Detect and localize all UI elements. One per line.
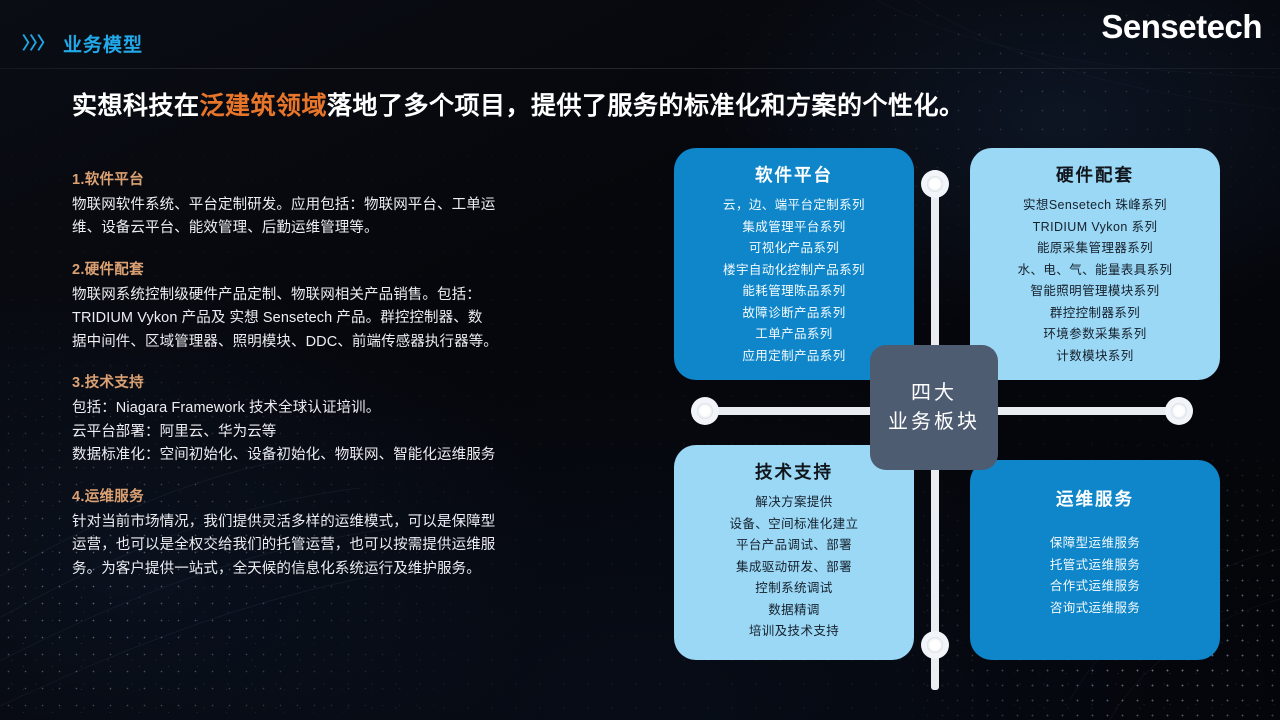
node-bottom	[921, 631, 949, 659]
body-line: 务。为客户提供一站式，全天候的信息化系统运行及维护服务。	[72, 558, 572, 581]
hub-line-2: 业务板块	[888, 408, 980, 437]
card-item: 合作式运维服务	[970, 576, 1220, 598]
card-item: 可视化产品系列	[674, 238, 914, 260]
section-kicker: 〉〉〉 业务模型	[22, 30, 143, 57]
body-line: TRIDIUM Vykon 产品及 实想 Sensetech 产品。群控控制器、…	[72, 307, 572, 330]
card-item-list: 保障型运维服务 托管式运维服务 合作式运维服务 咨询式运维服务	[970, 533, 1220, 619]
card-item: 集成管理平台系列	[674, 217, 914, 239]
block-body: 物联网系统控制级硬件产品定制、物联网相关产品销售。包括： TRIDIUM Vyk…	[72, 284, 572, 354]
block-heading: 3.技术支持	[72, 371, 572, 392]
card-item: 环境参数采集系列	[970, 324, 1220, 346]
brand-logo: Sensetech	[1101, 8, 1262, 46]
headline-before: 实想科技在	[72, 92, 200, 120]
block-body: 针对当前市场情况，我们提供灵活多样的运维模式，可以是保障型 运营，也可以是全权交…	[72, 511, 572, 581]
body-line: 数据标准化：空间初始化、设备初始化、物联网、智能化运维服务	[72, 444, 572, 467]
card-om-service[interactable]: 运维服务 保障型运维服务 托管式运维服务 合作式运维服务 咨询式运维服务	[970, 460, 1220, 660]
body-line: 包括：Niagara Framework 技术全球认证培训。	[72, 397, 572, 420]
block-heading: 2.硬件配套	[72, 258, 572, 279]
card-item: 托管式运维服务	[970, 555, 1220, 577]
body-line: 维、设备云平台、能效管理、后勤运维管理等。	[72, 217, 572, 240]
body-line: 物联网软件系统、平台定制研发。应用包括：物联网平台、工单运	[72, 194, 572, 217]
card-item: 设备、空间标准化建立	[674, 514, 914, 536]
card-item: 智能照明管理模块系列	[970, 281, 1220, 303]
block-body: 包括：Niagara Framework 技术全球认证培训。 云平台部署：阿里云…	[72, 397, 572, 467]
card-item: 云，边、端平台定制系列	[674, 195, 914, 217]
content-block-technical-support: 3.技术支持 包括：Niagara Framework 技术全球认证培训。 云平…	[72, 371, 572, 467]
card-technical-support[interactable]: 技术支持 解决方案提供 设备、空间标准化建立 平台产品调试、部署 集成驱动研发、…	[674, 445, 914, 660]
block-heading: 4.运维服务	[72, 485, 572, 506]
card-item: 实想Sensetech 珠峰系列	[970, 195, 1220, 217]
body-line: 运营，也可以是全权交给我们的托管运营，也可以按需提供运维服	[72, 534, 572, 557]
content-block-software-platform: 1.软件平台 物联网软件系统、平台定制研发。应用包括：物联网平台、工单运 维、设…	[72, 168, 572, 241]
node-top	[921, 170, 949, 198]
card-item: 工单产品系列	[674, 324, 914, 346]
left-content-column: 1.软件平台 物联网软件系统、平台定制研发。应用包括：物联网平台、工单运 维、设…	[72, 168, 572, 581]
card-item: TRIDIUM Vykon 系列	[970, 217, 1220, 239]
four-sectors-diagram: 软件平台 云，边、端平台定制系列 集成管理平台系列 可视化产品系列 楼宇自动化控…	[660, 140, 1230, 690]
center-hub: 四大 业务板块	[870, 345, 998, 470]
card-item: 能耗管理陈品系列	[674, 281, 914, 303]
header-divider	[0, 68, 1280, 69]
card-software-platform[interactable]: 软件平台 云，边、端平台定制系列 集成管理平台系列 可视化产品系列 楼宇自动化控…	[674, 148, 914, 380]
card-title: 硬件配套	[1056, 162, 1134, 187]
card-item: 故障诊断产品系列	[674, 303, 914, 325]
slide-canvas: 〉〉〉 业务模型 Sensetech 实想科技在泛建筑领域落地了多个项目，提供了…	[0, 0, 1280, 720]
content-block-om-service: 4.运维服务 针对当前市场情况，我们提供灵活多样的运维模式，可以是保障型 运营，…	[72, 485, 572, 581]
card-item-list: 云，边、端平台定制系列 集成管理平台系列 可视化产品系列 楼宇自动化控制产品系列…	[674, 195, 914, 367]
card-item: 保障型运维服务	[970, 533, 1220, 555]
headline-after: 落地了多个项目，提供了服务的标准化和方案的个性化。	[327, 92, 965, 120]
page-title: 实想科技在泛建筑领域落地了多个项目，提供了服务的标准化和方案的个性化。	[72, 86, 965, 122]
card-item: 能原采集管理器系列	[970, 238, 1220, 260]
card-item: 楼宇自动化控制产品系列	[674, 260, 914, 282]
body-line: 据中间件、区域管理器、照明模块、DDC、前端传感器执行器等。	[72, 331, 572, 354]
card-item: 水、电、气、能量表具系列	[970, 260, 1220, 282]
hub-line-1: 四大	[911, 379, 957, 408]
section-kicker-label: 业务模型	[63, 30, 143, 57]
card-item: 集成驱动研发、部署	[674, 557, 914, 579]
card-item: 控制系统调试	[674, 578, 914, 600]
card-item: 群控控制器系列	[970, 303, 1220, 325]
body-line: 云平台部署：阿里云、华为云等	[72, 421, 572, 444]
node-left	[691, 397, 719, 425]
body-line: 物联网系统控制级硬件产品定制、物联网相关产品销售。包括：	[72, 284, 572, 307]
body-line: 针对当前市场情况，我们提供灵活多样的运维模式，可以是保障型	[72, 511, 572, 534]
block-body: 物联网软件系统、平台定制研发。应用包括：物联网平台、工单运 维、设备云平台、能效…	[72, 194, 572, 241]
block-heading: 1.软件平台	[72, 168, 572, 189]
card-item-list: 实想Sensetech 珠峰系列 TRIDIUM Vykon 系列 能原采集管理…	[970, 195, 1220, 367]
card-hardware-kit[interactable]: 硬件配套 实想Sensetech 珠峰系列 TRIDIUM Vykon 系列 能…	[970, 148, 1220, 380]
card-title: 运维服务	[1056, 486, 1134, 511]
card-item-list: 解决方案提供 设备、空间标准化建立 平台产品调试、部署 集成驱动研发、部署 控制…	[674, 492, 914, 643]
card-item: 咨询式运维服务	[970, 598, 1220, 620]
node-right	[1165, 397, 1193, 425]
content-block-hardware-kit: 2.硬件配套 物联网系统控制级硬件产品定制、物联网相关产品销售。包括： TRID…	[72, 258, 572, 354]
card-item: 计数模块系列	[970, 346, 1220, 368]
card-title: 软件平台	[755, 162, 833, 187]
card-item: 培训及技术支持	[674, 621, 914, 643]
card-title: 技术支持	[755, 459, 833, 484]
card-item: 解决方案提供	[674, 492, 914, 514]
card-item: 平台产品调试、部署	[674, 535, 914, 557]
headline-highlight: 泛建筑领域	[200, 92, 328, 120]
card-item: 数据精调	[674, 600, 914, 622]
chevrons-icon: 〉〉〉	[22, 35, 53, 52]
